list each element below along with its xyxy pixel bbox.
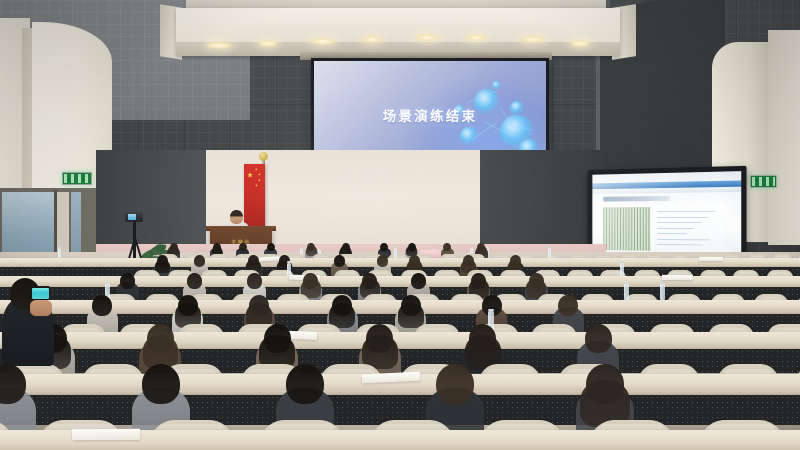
attendee — [426, 364, 484, 428]
paper-sheet — [72, 429, 140, 441]
conference-hall-photo: 场景演练结束 主席台 — [0, 0, 800, 450]
attendee-head — [142, 364, 180, 404]
attendee-head — [436, 364, 474, 404]
attendee — [576, 364, 634, 428]
attendee — [276, 364, 334, 428]
attendee — [0, 364, 36, 428]
audience-row-5 — [0, 0, 800, 450]
attendee-head — [286, 364, 324, 404]
attendee — [132, 364, 190, 428]
